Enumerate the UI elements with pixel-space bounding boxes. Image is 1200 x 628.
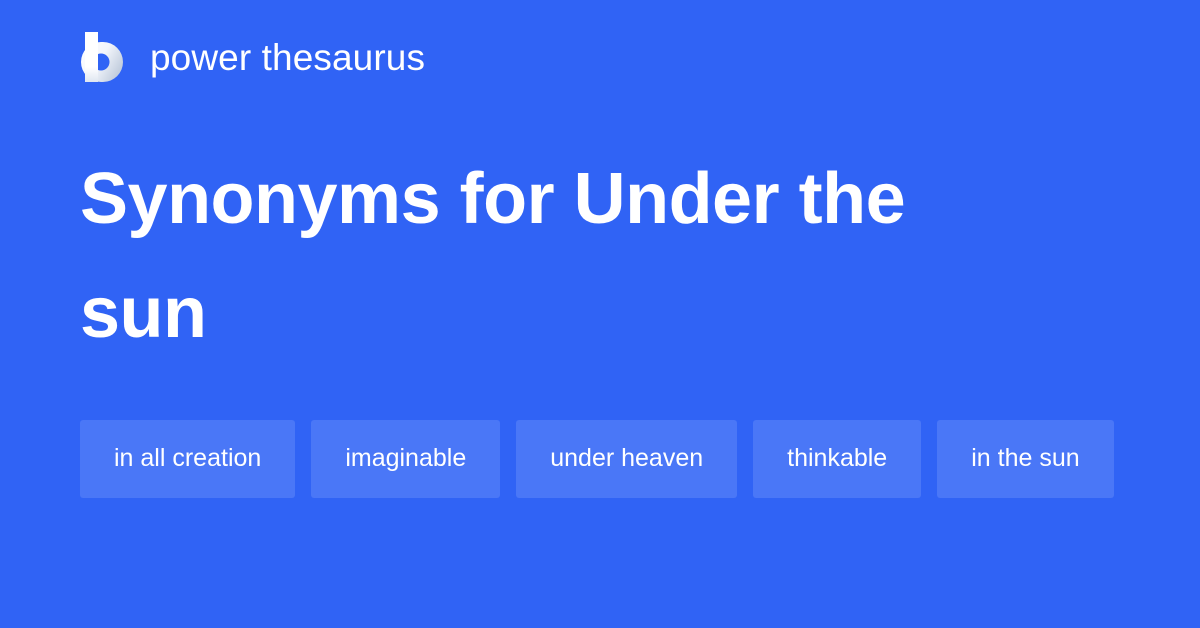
brand-name: power thesaurus <box>150 39 425 76</box>
synonym-chip[interactable]: thinkable <box>753 420 921 498</box>
share-card: power thesaurus Synonyms for Under the s… <box>0 0 1200 628</box>
synonym-chip[interactable]: in the sun <box>937 420 1113 498</box>
synonym-chip[interactable]: under heaven <box>516 420 737 498</box>
brand-header[interactable]: power thesaurus <box>80 28 425 86</box>
synonym-chip[interactable]: imaginable <box>311 420 500 498</box>
page-title: Synonyms for Under the sun <box>80 142 1040 370</box>
power-thesaurus-b-logo-icon <box>80 31 126 83</box>
synonym-chip-list: in all creation imaginable under heaven … <box>80 420 1120 498</box>
synonym-chip[interactable]: in all creation <box>80 420 295 498</box>
